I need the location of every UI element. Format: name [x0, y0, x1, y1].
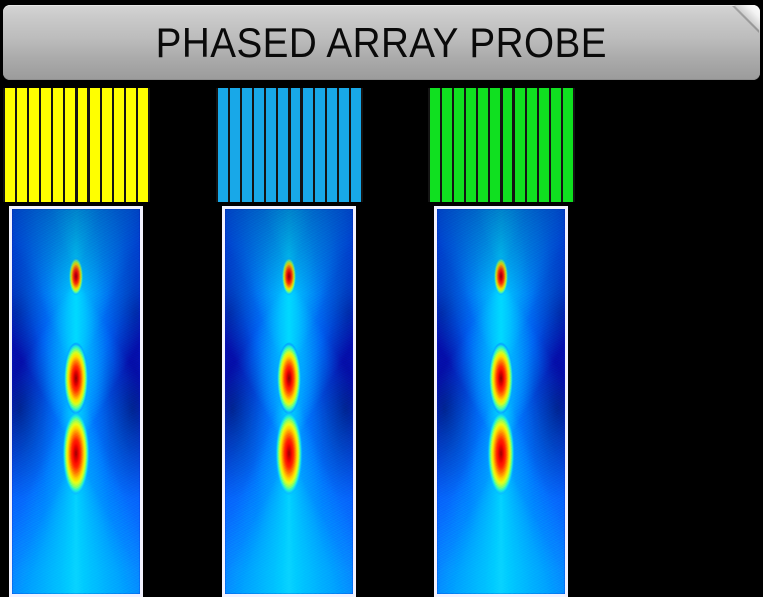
array-element[interactable]	[339, 88, 349, 202]
beam-field-speckle	[437, 209, 565, 594]
array-element[interactable]	[266, 88, 276, 202]
array-element[interactable]	[29, 88, 39, 202]
array-element[interactable]	[539, 88, 549, 202]
array-element[interactable]	[41, 88, 51, 202]
array-element[interactable]	[478, 88, 488, 202]
array-element[interactable]	[53, 88, 63, 202]
page-fold-shadow	[732, 6, 759, 33]
array-element[interactable]	[254, 88, 264, 202]
array-element[interactable]	[315, 88, 325, 202]
probe-element-array-yellow[interactable]	[3, 88, 150, 202]
array-element[interactable]	[242, 88, 252, 202]
array-element[interactable]	[17, 88, 27, 202]
array-element[interactable]	[230, 88, 240, 202]
probe-element-array-green[interactable]	[428, 88, 575, 202]
array-element[interactable]	[563, 88, 573, 202]
array-element[interactable]	[138, 88, 148, 202]
beam-field-plot-blue[interactable]	[222, 206, 356, 597]
beam-field-speckle	[12, 209, 140, 594]
array-element[interactable]	[78, 88, 88, 202]
array-element[interactable]	[527, 88, 537, 202]
array-element[interactable]	[218, 88, 228, 202]
diagram-canvas: PHASED ARRAY PROBE	[0, 0, 763, 597]
array-element[interactable]	[551, 88, 561, 202]
beam-field-plot-yellow[interactable]	[9, 206, 143, 597]
array-element[interactable]	[515, 88, 525, 202]
title-banner: PHASED ARRAY PROBE	[3, 5, 760, 80]
array-element[interactable]	[5, 88, 15, 202]
array-element[interactable]	[351, 88, 361, 202]
array-element[interactable]	[126, 88, 136, 202]
page-title: PHASED ARRAY PROBE	[156, 19, 607, 67]
array-element[interactable]	[327, 88, 337, 202]
array-element[interactable]	[442, 88, 452, 202]
array-element[interactable]	[278, 88, 288, 202]
array-element[interactable]	[114, 88, 124, 202]
array-element[interactable]	[291, 88, 301, 202]
array-element[interactable]	[490, 88, 500, 202]
array-element[interactable]	[65, 88, 75, 202]
array-element[interactable]	[102, 88, 112, 202]
beam-field-speckle	[225, 209, 353, 594]
array-element[interactable]	[303, 88, 313, 202]
array-element[interactable]	[466, 88, 476, 202]
array-element[interactable]	[454, 88, 464, 202]
array-element[interactable]	[430, 88, 440, 202]
probe-element-array-blue[interactable]	[216, 88, 363, 202]
array-element[interactable]	[90, 88, 100, 202]
beam-field-plot-green[interactable]	[434, 206, 568, 597]
array-element[interactable]	[503, 88, 513, 202]
